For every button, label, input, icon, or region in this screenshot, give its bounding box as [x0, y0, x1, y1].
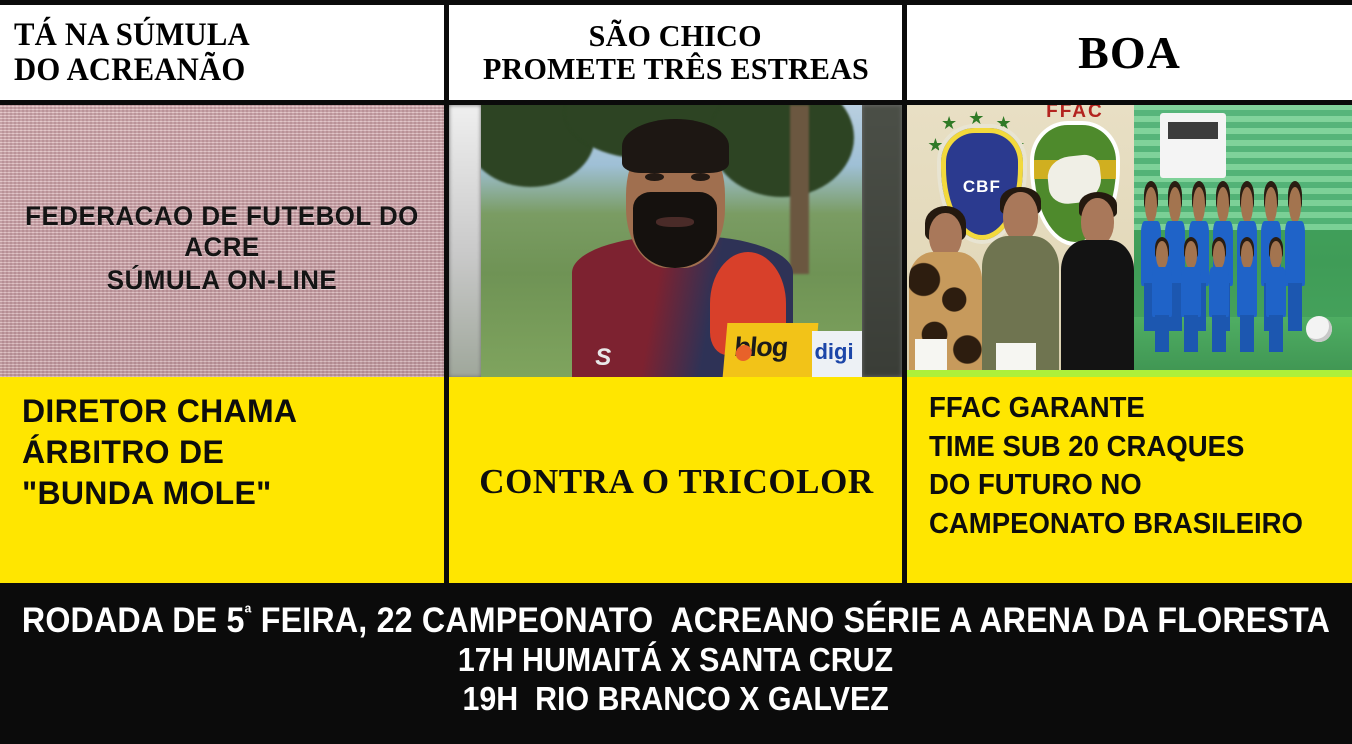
column-3-caption-line-1: FFAC GARANTE	[929, 389, 1312, 428]
scoreboard-display	[1168, 122, 1218, 139]
columns-container: TÁ NA SÚMULA DO ACREANÃO FEDERACAO DE FU…	[0, 5, 1352, 583]
tree-foliage-right	[710, 105, 855, 197]
official-woman	[909, 203, 982, 377]
banner-line-2: 17H HUMAITÁ X SANTA CRUZ	[458, 641, 893, 680]
split-photo: ★ ★ ★ ★ ★ CBF FFAC	[907, 105, 1352, 377]
official-man-center	[982, 187, 1059, 377]
interview-scene: S blog digi	[481, 105, 862, 377]
mic-flag-secondary-label: digi	[814, 339, 853, 365]
green-strip	[907, 370, 1352, 377]
interview-photo: S blog digi	[449, 105, 902, 377]
team-photo	[1134, 105, 1352, 377]
player-shirt	[1285, 221, 1305, 286]
column-1-header-line-2: DO ACREANÃO	[14, 53, 245, 87]
subject-hair	[622, 119, 729, 173]
column-1-header: TÁ NA SÚMULA DO ACREANÃO	[0, 5, 444, 105]
column-3-caption: FFAC GARANTE TIME SUB 20 CRAQUES DO FUTU…	[907, 377, 1352, 583]
column-2-header-line-2: PROMETE TRÊS ESTREAS	[483, 53, 869, 85]
scoreboard	[1160, 113, 1225, 178]
official-man-right	[1061, 192, 1134, 377]
banner-line-1-suffix: FEIRA, 22 CAMPEONATO ACREANO SÉRIE A ARE…	[252, 601, 1330, 640]
official-man-center-head	[1003, 192, 1038, 242]
news-card: TÁ NA SÚMULA DO ACREANÃO FEDERACAO DE FU…	[0, 0, 1352, 744]
player-front-1	[1151, 241, 1173, 350]
banner-line-1: RODADA DE 5ª FEIRA, 22 CAMPEONATO ACREAN…	[22, 600, 1330, 641]
player-shirt	[1181, 267, 1201, 317]
banner-line-3: 19H RIO BRANCO X GALVEZ	[463, 680, 889, 719]
player-shirt	[1209, 267, 1229, 317]
fixtures-banner: RODADA DE 5ª FEIRA, 22 CAMPEONATO ACREAN…	[0, 583, 1352, 744]
player-shirt	[1152, 267, 1172, 317]
banner-ordinal-suffix: ª	[245, 602, 252, 624]
player-head	[1185, 241, 1197, 269]
column-1-caption-line-2: ÁRBITRO DE	[22, 432, 424, 473]
player-head	[1241, 187, 1253, 224]
column-1-caption-line-1: DIRETOR CHAMA	[22, 391, 424, 432]
player-head	[1156, 241, 1168, 269]
photo-left-blur-band	[449, 105, 481, 377]
player-head	[1265, 187, 1277, 224]
player-head	[1241, 241, 1253, 269]
player-front-5	[1265, 241, 1287, 350]
column-1-header-line-1: TÁ NA SÚMULA	[14, 18, 250, 52]
column-1-photo: FEDERACAO DE FUTEBOL DO ACRE SÚMULA ON-L…	[0, 105, 444, 377]
player-front-4	[1236, 241, 1258, 350]
subject-mouth	[656, 217, 694, 228]
player-back-7	[1284, 187, 1306, 328]
column-2-caption-line-1: CONTRA O TRICOLOR	[479, 462, 874, 502]
player-legs	[1184, 315, 1198, 352]
player-legs	[1288, 283, 1302, 331]
player-legs	[1212, 315, 1226, 352]
player-shirt	[1266, 267, 1286, 317]
player-head	[1270, 241, 1282, 269]
column-2-header: SÃO CHICO PROMETE TRÊS ESTREAS	[449, 5, 902, 105]
tree-trunk	[790, 105, 809, 274]
press-conference-photo: ★ ★ ★ ★ ★ CBF FFAC	[907, 105, 1134, 377]
photo-right-blur-band	[862, 105, 902, 377]
screen-text-line-2: SÚMULA ON-LINE	[9, 265, 435, 296]
mic-flag-blog: blog	[722, 323, 818, 377]
official-man-right-body	[1061, 240, 1134, 377]
official-man-right-head	[1081, 198, 1114, 246]
column-3-caption-line-2: TIME SUB 20 CRAQUES	[929, 428, 1312, 467]
screen-photo-background: FEDERACAO DE FUTEBOL DO ACRE SÚMULA ON-L…	[0, 105, 444, 377]
player-shirt	[1237, 267, 1257, 317]
player-front-2	[1180, 241, 1202, 350]
subject-eye-right	[691, 173, 710, 181]
column-3-photo: ★ ★ ★ ★ ★ CBF FFAC	[907, 105, 1352, 377]
column-1-caption: DIRETOR CHAMA ÁRBITRO DE "BUNDA MOLE"	[0, 377, 444, 583]
column-3-caption-line-4: CAMPEONATO BRASILEIRO	[929, 505, 1312, 544]
column-sao-chico[interactable]: SÃO CHICO PROMETE TRÊS ESTREAS	[449, 5, 902, 583]
column-2-caption: CONTRA O TRICOLOR	[449, 377, 902, 583]
banner-line-1-prefix: RODADA DE 5	[22, 601, 245, 640]
subject-eye-left	[645, 173, 664, 181]
column-2-header-line-1: SÃO CHICO	[589, 20, 762, 52]
player-legs	[1155, 315, 1169, 352]
column-2-photo: S blog digi	[449, 105, 902, 377]
column-3-caption-line-3: DO FUTURO NO	[929, 466, 1312, 505]
mic-flag-secondary: digi	[812, 331, 862, 377]
screen-text-line-1: FEDERACAO DE FUTEBOL DO ACRE	[9, 201, 435, 263]
column-1-caption-line-3: "BUNDA MOLE"	[22, 473, 424, 514]
player-front-3	[1208, 241, 1230, 350]
column-sumula[interactable]: TÁ NA SÚMULA DO ACREANÃO FEDERACAO DE FU…	[0, 5, 444, 583]
player-head	[1213, 241, 1225, 269]
column-3-header-line-1: BOA	[1078, 29, 1181, 77]
football-icon	[1306, 316, 1332, 342]
official-man-center-paper	[996, 343, 1036, 373]
subject-beard	[633, 192, 717, 268]
player-legs	[1269, 315, 1283, 352]
player-head	[1217, 187, 1229, 224]
player-head	[1289, 187, 1301, 224]
player-legs	[1240, 315, 1254, 352]
ffac-crest-label: FFAC	[1034, 105, 1117, 123]
jersey-logo: S	[595, 344, 611, 372]
column-3-header: BOA	[907, 5, 1352, 105]
column-boa[interactable]: BOA ★ ★ ★ ★ ★ CBF FFAC	[907, 5, 1352, 583]
